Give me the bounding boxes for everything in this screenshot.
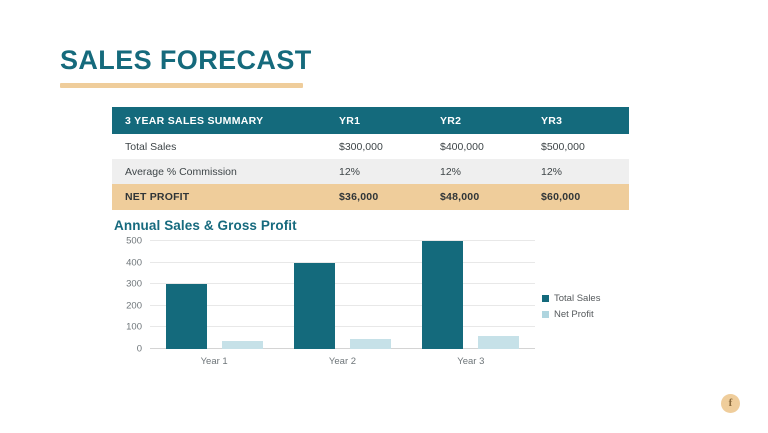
row-label-avg-commission: Average % Commission xyxy=(112,159,326,184)
table-row: Total Sales $300,000 $400,000 $500,000 xyxy=(112,134,629,159)
bar-groups xyxy=(150,241,535,349)
bar-total-sales-year-1 xyxy=(166,284,207,349)
legend-item[interactable]: Total Sales xyxy=(542,293,630,304)
table-header-yr3: YR3 xyxy=(528,107,629,134)
cell-net-profit-yr1: $36,000 xyxy=(326,184,427,210)
table-row: Average % Commission 12% 12% 12% xyxy=(112,159,629,184)
plot-area xyxy=(150,241,535,349)
x-axis-labels: Year 1Year 2Year 3 xyxy=(150,351,535,371)
bar-group xyxy=(279,241,406,349)
annual-sales-chart: Annual Sales & Gross Profit 010020030040… xyxy=(110,218,630,388)
cell-avg-commission-yr2: 12% xyxy=(427,159,528,184)
x-axis-tick-label: Year 3 xyxy=(407,356,534,367)
page-title: SALES FORECAST xyxy=(60,46,312,74)
bar-net-profit-year-2 xyxy=(350,339,391,349)
row-label-net-profit: NET PROFIT xyxy=(112,184,326,210)
cell-avg-commission-yr3: 12% xyxy=(528,159,629,184)
legend-item[interactable]: Net Profit xyxy=(542,309,630,320)
title-underline-rule xyxy=(60,83,303,88)
y-axis-tick-label: 400 xyxy=(106,257,142,268)
bar-group xyxy=(407,241,534,349)
bar-net-profit-year-1 xyxy=(222,341,263,349)
legend-label: Total Sales xyxy=(554,293,600,304)
title-block: SALES FORECAST xyxy=(60,46,312,88)
y-axis-tick-label: 300 xyxy=(106,279,142,290)
bar-total-sales-year-3 xyxy=(422,241,463,349)
cell-total-sales-yr1: $300,000 xyxy=(326,134,427,159)
table-header-yr2: YR2 xyxy=(427,107,528,134)
y-axis-tick-label: 100 xyxy=(106,322,142,333)
legend-swatch-icon xyxy=(542,295,549,302)
x-axis-tick-label: Year 2 xyxy=(279,356,406,367)
bar-net-profit-year-3 xyxy=(478,336,519,349)
table-header-yr1: YR1 xyxy=(326,107,427,134)
legend-label: Net Profit xyxy=(554,309,594,320)
chart-legend: Total SalesNet Profit xyxy=(542,293,630,325)
y-axis-labels: 0100200300400500 xyxy=(110,241,146,349)
y-axis-tick-label: 0 xyxy=(106,344,142,355)
chart-title: Annual Sales & Gross Profit xyxy=(114,218,630,233)
table-header-summary: 3 YEAR SALES SUMMARY xyxy=(112,107,326,134)
bar-total-sales-year-2 xyxy=(294,263,335,349)
bar-group xyxy=(151,241,278,349)
table-row-net-profit: NET PROFIT $36,000 $48,000 $60,000 xyxy=(112,184,629,210)
y-axis-tick-label: 500 xyxy=(106,236,142,247)
cell-avg-commission-yr1: 12% xyxy=(326,159,427,184)
cell-total-sales-yr2: $400,000 xyxy=(427,134,528,159)
cell-total-sales-yr3: $500,000 xyxy=(528,134,629,159)
x-axis-tick-label: Year 1 xyxy=(151,356,278,367)
cell-net-profit-yr2: $48,000 xyxy=(427,184,528,210)
y-axis-tick-label: 200 xyxy=(106,300,142,311)
sales-summary-table: 3 YEAR SALES SUMMARY YR1 YR2 YR3 Total S… xyxy=(112,107,629,210)
row-label-total-sales: Total Sales xyxy=(112,134,326,159)
slide-canvas: SALES FORECAST 3 YEAR SALES SUMMARY YR1 … xyxy=(0,0,768,433)
table-header-row: 3 YEAR SALES SUMMARY YR1 YR2 YR3 xyxy=(112,107,629,134)
facebook-f-icon[interactable]: f xyxy=(721,394,740,413)
chart-body: 0100200300400500 Year 1Year 2Year 3 Tota… xyxy=(110,241,630,371)
cell-net-profit-yr3: $60,000 xyxy=(528,184,629,210)
legend-swatch-icon xyxy=(542,311,549,318)
